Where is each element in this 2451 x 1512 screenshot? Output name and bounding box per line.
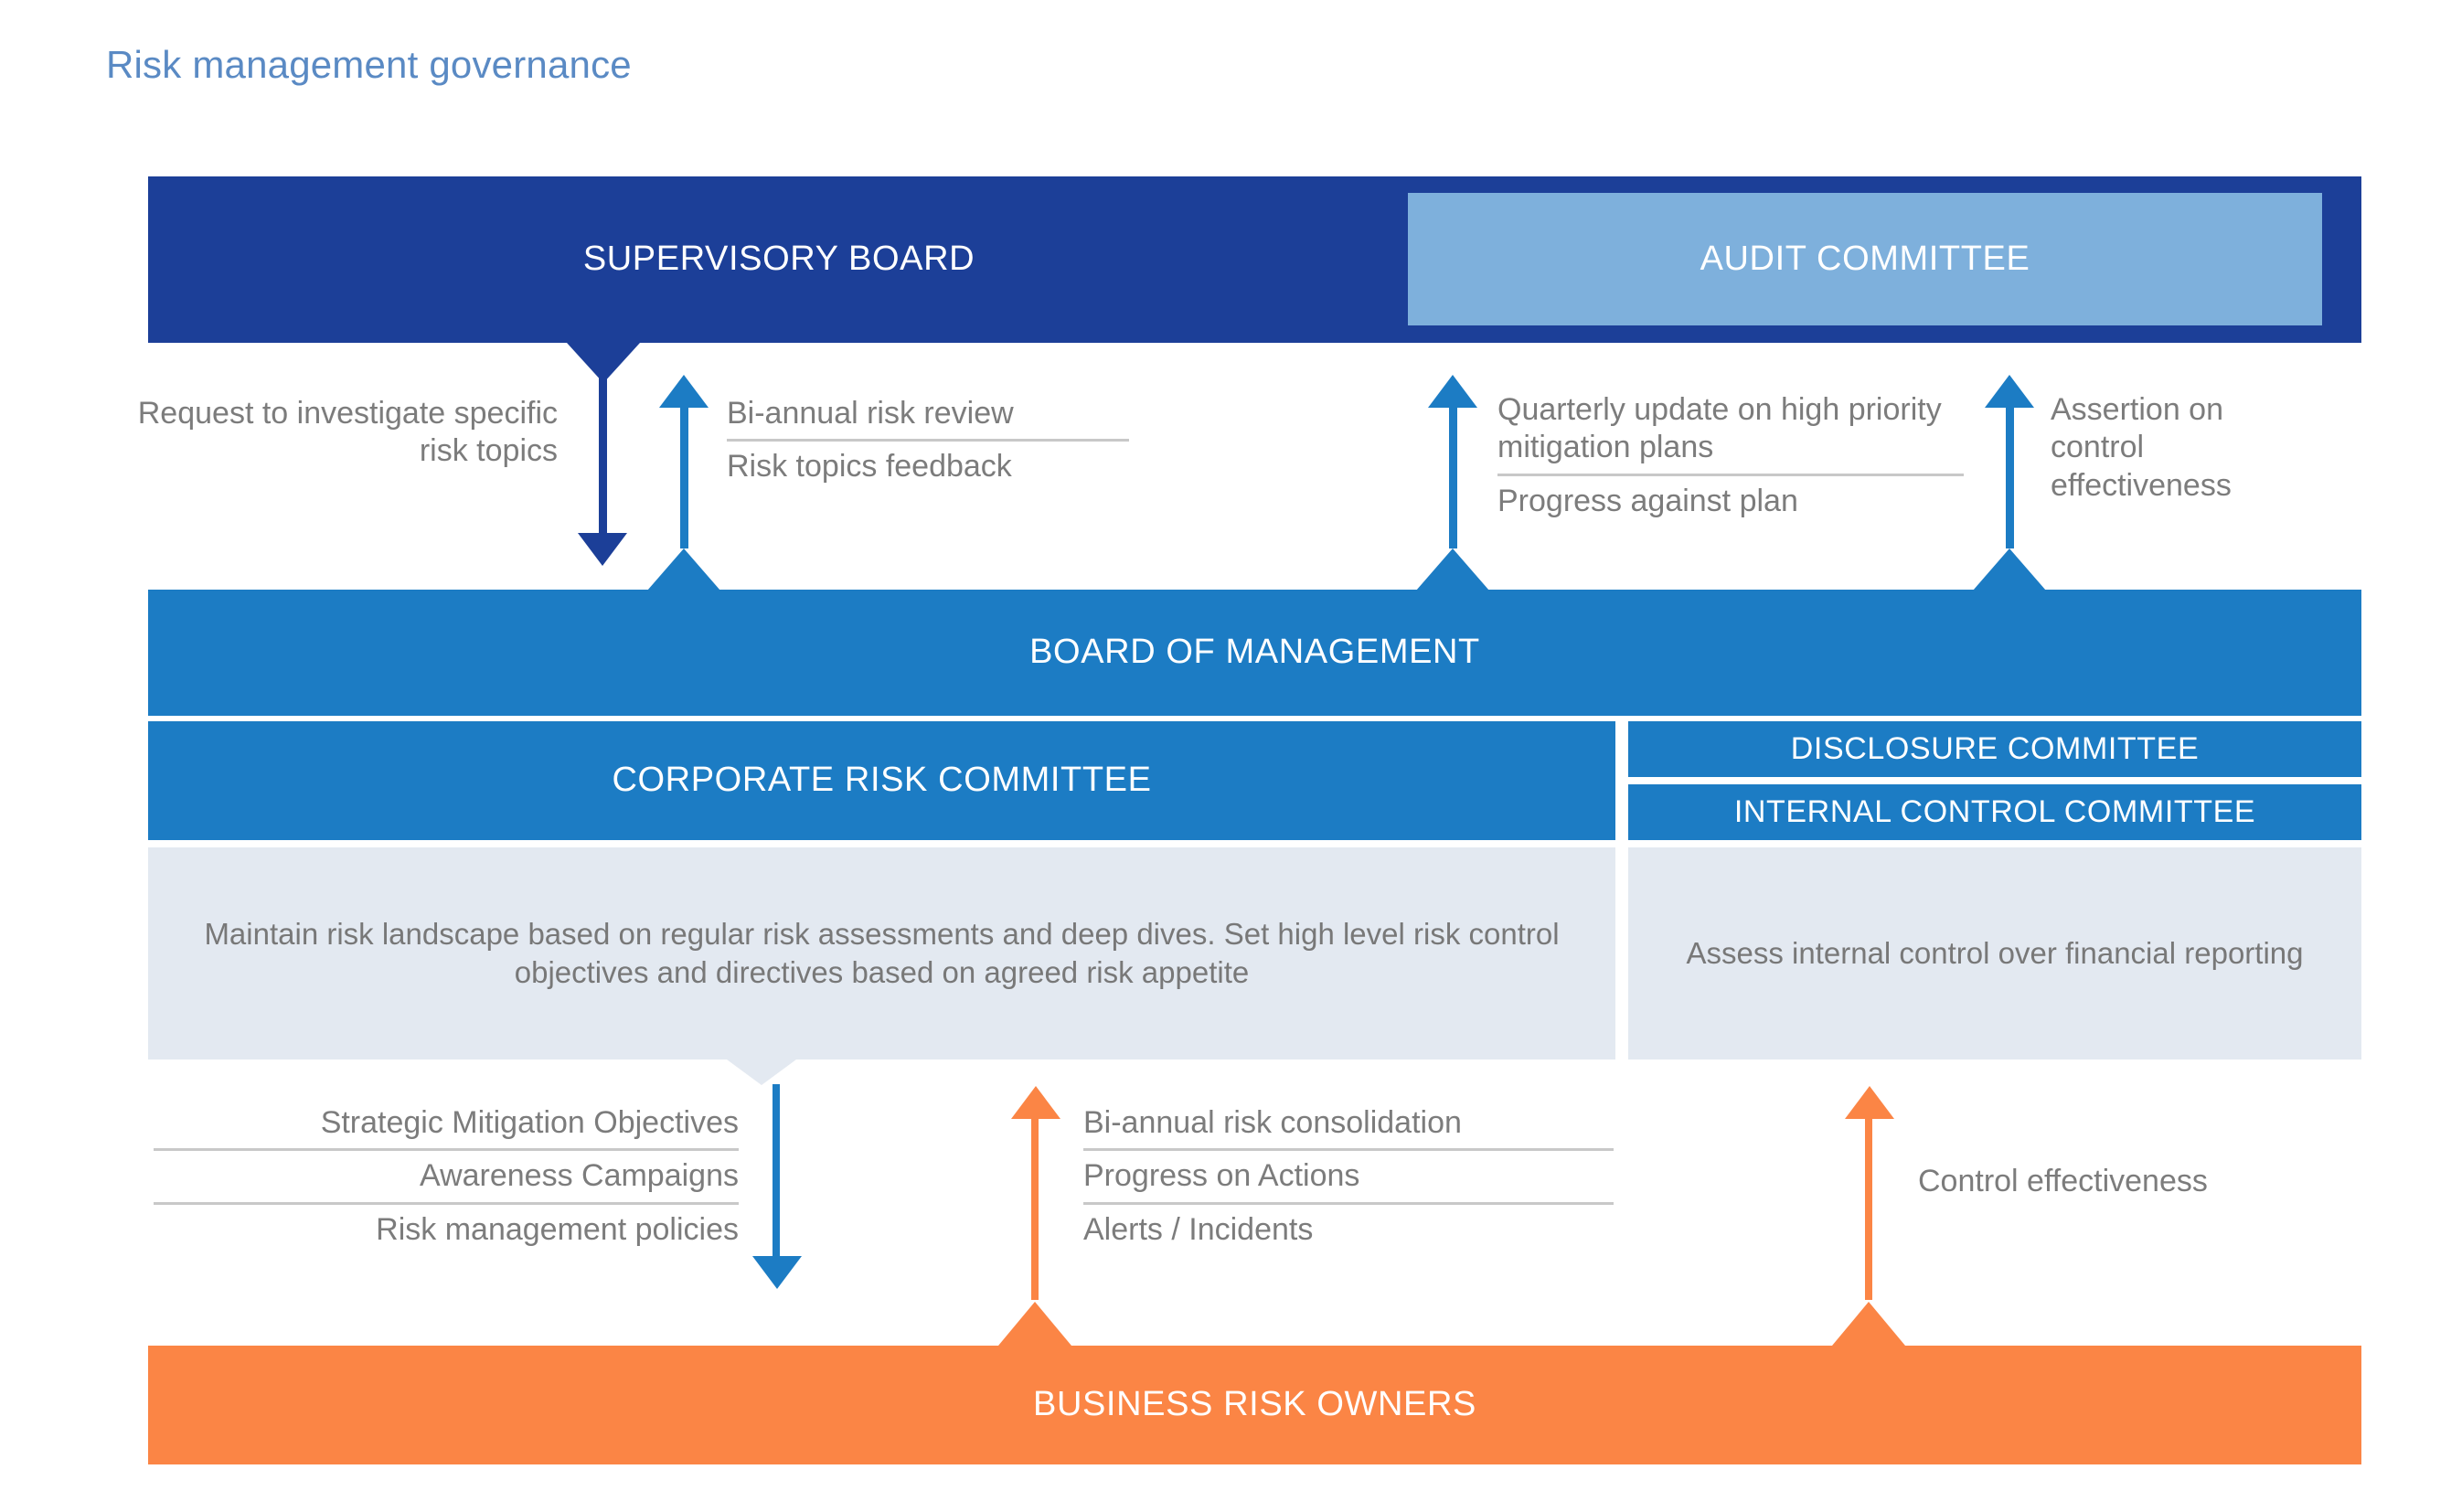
flow-label-control-effectiveness: Control effectiveness: [1918, 1163, 2393, 1200]
internal-control-committee-label: INTERNAL CONTROL COMMITTEE: [1734, 794, 2255, 830]
arrow-up-consolidation-line: [1031, 1117, 1039, 1300]
disclosure-committee-band: DISCLOSURE COMMITTEE: [1628, 721, 2361, 777]
board-connector-tab-up-3-icon: [1973, 548, 2046, 591]
flow-label-request-text: Request to investigate specific risk top…: [137, 395, 558, 471]
flow-label-bi-annual-risk-consolidation: Bi-annual risk consolidation: [1083, 1104, 1614, 1142]
flow-label-divider: [1083, 1202, 1614, 1205]
flow-label-quarterly-update: Quarterly update on high priority mitiga…: [1497, 391, 1964, 467]
diagram-canvas: Risk management governance SUPERVISORY B…: [0, 0, 2451, 1512]
flow-labels-consolidation: Bi-annual risk consolidation Progress on…: [1083, 1104, 1614, 1249]
flow-label-awareness-campaigns: Awareness Campaigns: [154, 1157, 739, 1195]
audit-committee-box: AUDIT COMMITTEE: [1408, 193, 2322, 325]
corporate-risk-committee-description: Maintain risk landscape based on regular…: [148, 915, 1615, 992]
flow-label-control-effectiveness-text: Control effectiveness: [1918, 1163, 2393, 1200]
flow-label-bi-annual-risk-review: Bi-annual risk review: [727, 395, 1129, 432]
arrow-down-request-head-icon: [578, 533, 627, 566]
flow-label-progress-on-actions: Progress on Actions: [1083, 1157, 1614, 1195]
arrow-up-assertion-head-icon: [1985, 375, 2034, 408]
flow-label-progress-against-plan: Progress against plan: [1497, 483, 1964, 520]
business-risk-owners-label: BUSINESS RISK OWNERS: [1033, 1385, 1476, 1425]
supervisory-board-label: SUPERVISORY BOARD: [583, 240, 975, 280]
corporate-risk-committee-description-box: Maintain risk landscape based on regular…: [148, 847, 1615, 1059]
board-of-management-band: BOARD OF MANAGEMENT: [148, 590, 2361, 716]
flow-label-divider: [154, 1202, 739, 1205]
flow-label-assertion-text: Assertion on control effectiveness: [2051, 391, 2325, 505]
board-connector-tab-up-1-icon: [647, 548, 720, 591]
audit-committee-label: AUDIT COMMITTEE: [1700, 240, 2030, 280]
flow-label-assertion: Assertion on control effectiveness: [2051, 391, 2325, 505]
arrow-down-mitigation-line: [773, 1084, 780, 1258]
board-connector-tab-up-2-icon: [1416, 548, 1489, 591]
supervisory-board-label-wrap: SUPERVISORY BOARD: [148, 176, 1410, 343]
flow-label-alerts-incidents: Alerts / Incidents: [1083, 1211, 1614, 1249]
flow-label-risk-topics-feedback: Risk topics feedback: [727, 448, 1129, 485]
internal-control-committee-band: INTERNAL CONTROL COMMITTEE: [1628, 784, 2361, 840]
board-of-management-label: BOARD OF MANAGEMENT: [1029, 633, 1480, 673]
flow-label-strategic-mitigation-objectives: Strategic Mitigation Objectives: [154, 1104, 739, 1142]
bro-connector-tab-up-2-icon: [1832, 1302, 1905, 1346]
arrow-up-assertion-line: [2006, 402, 2014, 548]
arrow-up-quarterly-line: [1449, 402, 1457, 548]
internal-control-committee-description: Assess internal control over financial r…: [1649, 934, 2339, 973]
corporate-risk-committee-label: CORPORATE RISK COMMITTEE: [612, 761, 1151, 801]
corporate-risk-committee-connector-tab-icon: [727, 1059, 796, 1085]
arrow-up-quarterly-head-icon: [1428, 375, 1477, 408]
arrow-up-review-head-icon: [659, 375, 709, 408]
arrow-up-control-effectiveness-line: [1865, 1117, 1872, 1300]
flow-labels-mitigation: Strategic Mitigation Objectives Awarenes…: [154, 1104, 739, 1249]
flow-label-divider: [1083, 1148, 1614, 1151]
arrow-down-request-line: [599, 370, 607, 535]
flow-label-risk-management-policies: Risk management policies: [154, 1211, 739, 1249]
arrow-up-consolidation-head-icon: [1011, 1086, 1060, 1119]
corporate-risk-committee-band: CORPORATE RISK COMMITTEE: [148, 721, 1615, 840]
arrow-down-mitigation-head-icon: [752, 1256, 802, 1289]
flow-label-divider: [154, 1148, 739, 1151]
disclosure-committee-label: DISCLOSURE COMMITTEE: [1791, 731, 2199, 767]
bro-connector-tab-up-1-icon: [998, 1302, 1071, 1346]
flow-labels-quarterly: Quarterly update on high priority mitiga…: [1497, 391, 1964, 520]
flow-label-request: Request to investigate specific risk top…: [137, 395, 558, 471]
flow-label-divider: [727, 439, 1129, 442]
internal-control-committee-description-box: Assess internal control over financial r…: [1628, 847, 2361, 1059]
flow-label-divider: [1497, 474, 1964, 476]
arrow-up-control-effectiveness-head-icon: [1845, 1086, 1894, 1119]
flow-labels-review: Bi-annual risk review Risk topics feedba…: [727, 395, 1129, 486]
page-title: Risk management governance: [106, 43, 632, 87]
business-risk-owners-band: BUSINESS RISK OWNERS: [148, 1346, 2361, 1464]
arrow-up-review-line: [680, 402, 688, 548]
